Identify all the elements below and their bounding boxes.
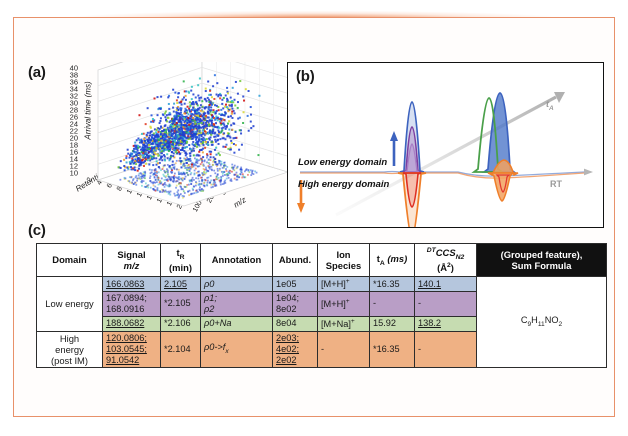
cell-signal: 120.0806; 103.0545; 91.0542 <box>103 331 161 367</box>
feature-table: Domain Signalm/z tR(min) Annotation Abun… <box>36 243 607 368</box>
cell-abundance: 2e03; 4e02; 2e02 <box>273 331 318 367</box>
panel-a-label: (a) <box>28 64 46 81</box>
cell-abundance: 8e04 <box>273 316 318 331</box>
panel-c-results-table: Domain Signalm/z tR(min) Annotation Abun… <box>36 243 606 382</box>
col-header-annotation: Annotation <box>201 244 273 277</box>
y-tick: 10 <box>70 169 78 178</box>
cell-ccs: 138.2 <box>415 316 477 331</box>
cell-annotation: ρ0->fx <box>201 331 273 367</box>
cell-ion-species: [M+H]+ <box>318 291 370 316</box>
cell-ccs: 140.1 <box>415 277 477 292</box>
cell-signal: 188.0682 <box>103 316 161 331</box>
axis-label-ta: tA <box>546 99 554 112</box>
col-header-grouped-feature: (Grouped feature),Sum Formula <box>477 244 607 277</box>
col-header-ta: tA (ms) <box>370 244 415 277</box>
cell-ta: - <box>370 291 415 316</box>
cell-annotation: ρ1;ρ2 <box>201 291 273 316</box>
col-header-domain: Domain <box>37 244 103 277</box>
col-header-ion-species: IonSpecies <box>318 244 370 277</box>
cell-tr: *2.106 <box>161 316 201 331</box>
low-energy-domain-label: Low energy domain <box>298 157 387 168</box>
cell-ccs: - <box>415 331 477 367</box>
col-header-ccs: DTCCSN2 (Å2) <box>415 244 477 277</box>
cell-ion-species: [M+Na]+ <box>318 316 370 331</box>
panel-b-svg <box>288 63 603 227</box>
cell-signal: 167.0894;168.0916 <box>103 291 161 316</box>
cell-tr: *2.105 <box>161 291 201 316</box>
cell-abundance: 1e04;8e02 <box>273 291 318 316</box>
cell-ion-species: - <box>318 331 370 367</box>
cell-annotation: ρ0 <box>201 277 273 292</box>
cell-tr: *2.104 <box>161 331 201 367</box>
panel-b-domain-diagram: (b) <box>287 62 604 228</box>
table-header-row: Domain Signalm/z tR(min) Annotation Abun… <box>37 244 607 277</box>
cell-tr: 2.105 <box>161 277 201 292</box>
high-energy-domain-label: High energy domain <box>298 179 389 190</box>
scatter3d-plot-area: Arrival time (ms) 4038363432302826242220… <box>80 62 288 230</box>
table-row: Low energy 166.0863 2.105 ρ0 1e05 [M+H]+… <box>37 277 607 292</box>
cell-ta: *16.35 <box>370 277 415 292</box>
col-header-tr: tR(min) <box>161 244 201 277</box>
cell-sum-formula: C9H11NO2 <box>477 277 607 368</box>
scatter3d-svg <box>80 62 288 230</box>
col-header-abundance: Abund. <box>273 244 318 277</box>
panel-c-label: (c) <box>28 222 46 239</box>
cell-abundance: 1e05 <box>273 277 318 292</box>
axis-label-rt: RT <box>550 179 562 189</box>
cell-ccs: - <box>415 291 477 316</box>
panel-a-scatter3d: (a) Arrival time (ms) 403836343230282624… <box>28 58 290 230</box>
cell-signal: 166.0863 <box>103 277 161 292</box>
cell-ta: 15.92 <box>370 316 415 331</box>
cell-domain-low: Low energy <box>37 277 103 332</box>
col-header-signal-mz: Signalm/z <box>103 244 161 277</box>
cell-domain-high: High energy (post IM) <box>37 331 103 367</box>
cell-annotation: ρ0+Na <box>201 316 273 331</box>
cell-ion-species: [M+H]+ <box>318 277 370 292</box>
cell-ta: *16.35 <box>370 331 415 367</box>
